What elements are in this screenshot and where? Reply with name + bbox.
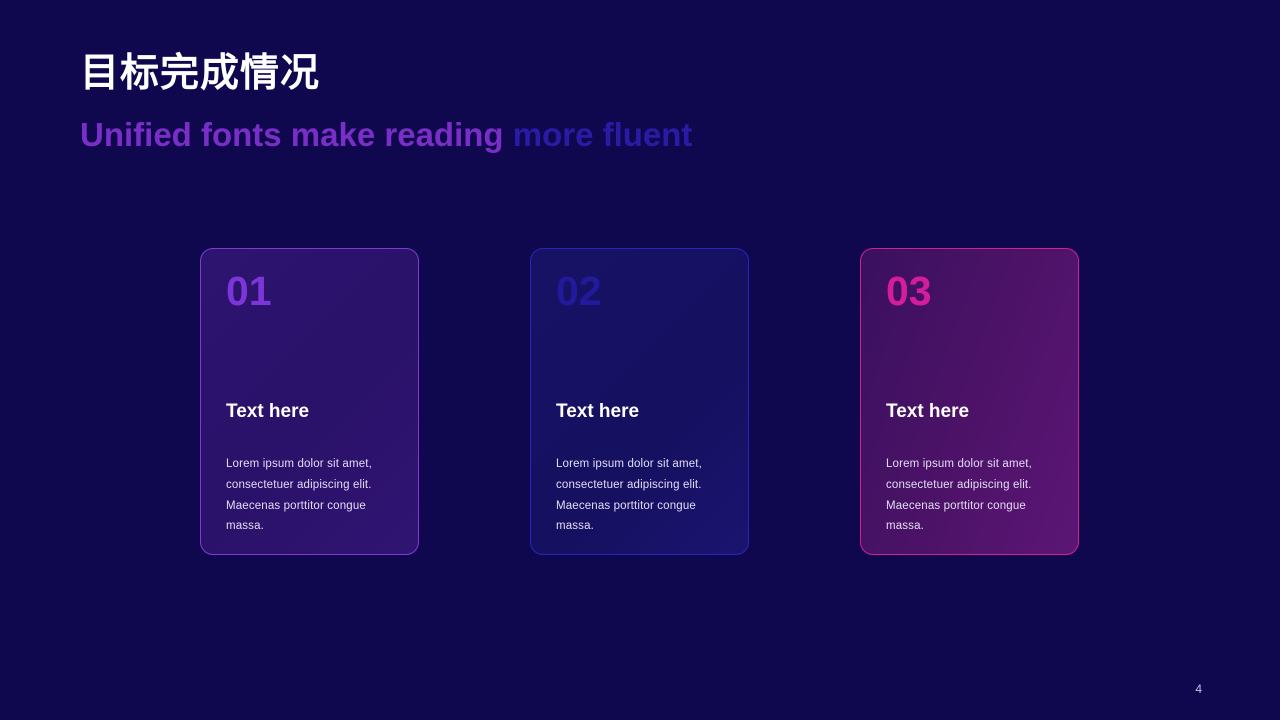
card-body-text: Lorem ipsum dolor sit amet, consectetuer… bbox=[556, 454, 728, 537]
slide-canvas: 目标完成情况 Unified fonts make reading more f… bbox=[0, 0, 1280, 720]
card-body-text: Lorem ipsum dolor sit amet, consectetuer… bbox=[886, 454, 1058, 537]
subtitle-primary-text: Unified fonts make reading bbox=[80, 116, 504, 153]
info-card-03[interactable]: 03 Text here Lorem ipsum dolor sit amet,… bbox=[860, 248, 1079, 555]
card-body-text: Lorem ipsum dolor sit amet, consectetuer… bbox=[226, 454, 398, 537]
info-card-02[interactable]: 02 Text here Lorem ipsum dolor sit amet,… bbox=[530, 248, 749, 555]
card-heading: Text here bbox=[886, 402, 969, 423]
subtitle-accent-text: more fluent bbox=[504, 116, 693, 153]
slide-header: 目标完成情况 Unified fonts make reading more f… bbox=[80, 52, 980, 154]
card-group: 01 Text here Lorem ipsum dolor sit amet,… bbox=[200, 248, 1081, 557]
page-title: 目标完成情况 bbox=[80, 52, 980, 97]
page-subtitle: Unified fonts make reading more fluent bbox=[80, 116, 980, 154]
info-card-01[interactable]: 01 Text here Lorem ipsum dolor sit amet,… bbox=[200, 248, 419, 555]
card-number-badge: 02 bbox=[556, 271, 724, 312]
card-heading: Text here bbox=[556, 402, 639, 423]
card-heading: Text here bbox=[226, 402, 309, 423]
page-number: 4 bbox=[1195, 683, 1202, 695]
card-number-badge: 01 bbox=[226, 271, 394, 312]
card-number-badge: 03 bbox=[886, 271, 1054, 312]
